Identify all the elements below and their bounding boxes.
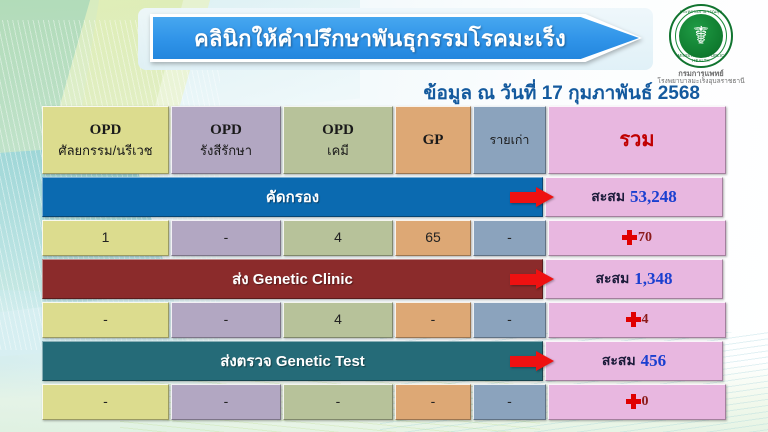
section-band-row-genetic-clinic: ส่ง Genetic Clinic สะสม 1,348 [42, 259, 726, 302]
column-header-gp: GP [395, 106, 471, 174]
summary-table: OPD ศัลยกรรม/นรีเวช OPD รังสีรักษา OPD เ… [42, 106, 726, 423]
cell-genetic-clinic-opd-chemo: 4 [283, 302, 393, 338]
column-header-line1: รายเก่า [490, 133, 530, 147]
delta-group: 0 [626, 394, 649, 410]
red-right-arrow-icon [510, 351, 556, 371]
cell-screening-delta: 70 [548, 220, 726, 256]
delta-group: 70 [622, 230, 652, 246]
section-cumulative-genetic-test: สะสม 456 [545, 341, 723, 381]
table-row-genetic-clinic-values: - - 4 - - 4 [42, 302, 726, 341]
cumulative-value: 1,348 [634, 269, 672, 289]
ministry-of-public-health-emblem-icon: กระทรวงสาธารณสุข MINISTRY OF PUBLIC HEAL… [669, 4, 733, 68]
cell-genetic-test-opd-surgery: - [42, 384, 169, 420]
data-as-of-date: ข้อมูล ณ วันที่ 17 กุมภาพันธ์ 2568 [0, 78, 700, 108]
delta-value: 70 [638, 230, 652, 246]
table-row-screening-values: 1 - 4 65 - 70 [42, 220, 726, 259]
column-header-opd-radiation: OPD รังสีรักษา [171, 106, 281, 174]
table-header-row: OPD ศัลยกรรม/นรีเวช OPD รังสีรักษา OPD เ… [42, 106, 726, 177]
cell-genetic-test-old-cases: - [473, 384, 546, 420]
title-banner: คลินิกให้คำปรึกษาพันธุกรรมโรคมะเร็ง [150, 14, 642, 62]
red-right-arrow-icon [510, 269, 556, 289]
red-plus-icon [626, 394, 641, 409]
cell-genetic-clinic-opd-radiation: - [171, 302, 281, 338]
column-header-opd-chemo: OPD เคมี [283, 106, 393, 174]
cell-genetic-clinic-delta: 4 [548, 302, 726, 338]
column-header-old-cases: รายเก่า [473, 106, 546, 174]
section-band-row-screening: คัดกรอง สะสม 53,248 [42, 177, 726, 220]
cell-genetic-test-opd-chemo: - [283, 384, 393, 420]
cell-screening-opd-radiation: - [171, 220, 281, 256]
delta-value: 0 [642, 394, 649, 410]
cell-genetic-clinic-gp: - [395, 302, 471, 338]
delta-value: 4 [642, 312, 649, 328]
column-header-opd-surgery: OPD ศัลยกรรม/นรีเวช [42, 106, 169, 174]
cell-screening-gp: 65 [395, 220, 471, 256]
section-band-label-screening: คัดกรอง [42, 177, 543, 217]
section-cumulative-genetic-clinic: สะสม 1,348 [545, 259, 723, 299]
column-header-line2: ศัลยกรรม/นรีเวช [58, 144, 152, 159]
column-header-line1: OPD [90, 122, 122, 139]
table-row-genetic-test-values: - - - - - 0 [42, 384, 726, 423]
section-cumulative-screening: สะสม 53,248 [545, 177, 723, 217]
red-plus-icon [626, 312, 641, 327]
cell-genetic-clinic-opd-surgery: - [42, 302, 169, 338]
emblem-disc: ☤ [679, 14, 723, 58]
cell-screening-opd-chemo: 4 [283, 220, 393, 256]
cell-genetic-test-gp: - [395, 384, 471, 420]
column-header-line2: เคมี [327, 144, 349, 159]
section-band-row-genetic-test: ส่งตรวจ Genetic Test สะสม 456 [42, 341, 726, 384]
cell-screening-opd-surgery: 1 [42, 220, 169, 256]
red-right-arrow-icon [510, 187, 556, 207]
page-title: คลินิกให้คำปรึกษาพันธุกรรมโรคมะเร็ง [194, 21, 598, 56]
caduceus-icon: ☤ [693, 24, 710, 49]
delta-group: 4 [626, 312, 649, 328]
cumulative-label: สะสม [602, 350, 636, 372]
cell-genetic-test-opd-radiation: - [171, 384, 281, 420]
cumulative-label: สะสม [591, 186, 625, 208]
cumulative-value: 53,248 [630, 187, 677, 207]
cell-genetic-clinic-old-cases: - [473, 302, 546, 338]
column-header-line1: GP [423, 132, 444, 149]
title-banner-fill: คลินิกให้คำปรึกษาพันธุกรรมโรคมะเร็ง [153, 17, 639, 59]
section-band-label-genetic-clinic: ส่ง Genetic Clinic [42, 259, 543, 299]
cell-genetic-test-delta: 0 [548, 384, 726, 420]
column-header-line1: OPD [210, 122, 242, 139]
column-header-line2: รังสีรักษา [200, 144, 252, 159]
cell-screening-old-cases: - [473, 220, 546, 256]
cumulative-value: 456 [641, 351, 667, 371]
section-band-label-genetic-test: ส่งตรวจ Genetic Test [42, 341, 543, 381]
red-plus-icon [622, 230, 637, 245]
column-header-line1: OPD [322, 122, 354, 139]
column-header-total: รวม [548, 106, 726, 174]
cumulative-label: สะสม [595, 268, 629, 290]
